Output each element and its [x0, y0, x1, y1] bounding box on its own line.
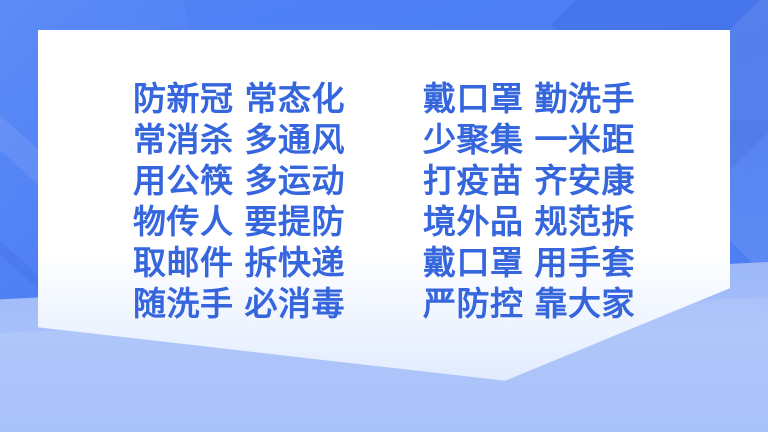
slogan-line: 戴口罩 勤洗手 [423, 78, 635, 119]
slogan-column-left: 防新冠 常态化 常消杀 多通风 用公筷 多运动 物传人 要提防 取邮件 拆快递 … [133, 78, 345, 386]
slogan-segment: 防新冠 [133, 78, 234, 119]
slogan-line: 少聚集 一米距 [423, 119, 635, 160]
slogan-grid: 防新冠 常态化 常消杀 多通风 用公筷 多运动 物传人 要提防 取邮件 拆快递 … [38, 30, 730, 386]
slogan-segment: 一米距 [535, 119, 636, 160]
slogan-line: 防新冠 常态化 [133, 78, 345, 119]
slogan-segment: 严防控 [423, 283, 524, 324]
slogan-segment: 要提防 [245, 201, 346, 242]
slogan-segment: 随洗手 [133, 283, 234, 324]
slogan-line: 戴口罩 用手套 [423, 242, 635, 283]
slogan-line: 取邮件 拆快递 [133, 242, 345, 283]
slogan-segment: 少聚集 [423, 119, 524, 160]
slogan-segment: 多通风 [245, 119, 346, 160]
slogan-column-right: 戴口罩 勤洗手 少聚集 一米距 打疫苗 齐安康 境外品 规范拆 戴口罩 用手套 … [423, 78, 635, 386]
slogan-segment: 多运动 [245, 160, 346, 201]
slogan-line: 用公筷 多运动 [133, 160, 345, 201]
slogan-segment: 戴口罩 [423, 78, 524, 119]
slogan-segment: 齐安康 [535, 160, 636, 201]
slogan-line: 常消杀 多通风 [133, 119, 345, 160]
slogan-segment: 戴口罩 [423, 242, 524, 283]
slogan-line: 打疫苗 齐安康 [423, 160, 635, 201]
slogan-segment: 境外品 [423, 201, 524, 242]
poster-canvas: 防新冠 常态化 常消杀 多通风 用公筷 多运动 物传人 要提防 取邮件 拆快递 … [0, 0, 768, 432]
slogan-segment: 常消杀 [133, 119, 234, 160]
slogan-line: 境外品 规范拆 [423, 201, 635, 242]
slogan-segment: 打疫苗 [423, 160, 524, 201]
slogan-segment: 勤洗手 [535, 78, 636, 119]
slogan-segment: 取邮件 [133, 242, 234, 283]
slogan-line: 随洗手 必消毒 [133, 283, 345, 324]
slogan-segment: 靠大家 [535, 283, 636, 324]
slogan-segment: 物传人 [133, 201, 234, 242]
slogan-segment: 常态化 [245, 78, 346, 119]
slogan-segment: 用手套 [535, 242, 636, 283]
slogan-segment: 规范拆 [535, 201, 636, 242]
slogan-line: 严防控 靠大家 [423, 283, 635, 324]
slogan-segment: 拆快递 [245, 242, 346, 283]
slogan-segment: 必消毒 [245, 283, 346, 324]
slogan-line: 物传人 要提防 [133, 201, 345, 242]
slogan-segment: 用公筷 [133, 160, 234, 201]
